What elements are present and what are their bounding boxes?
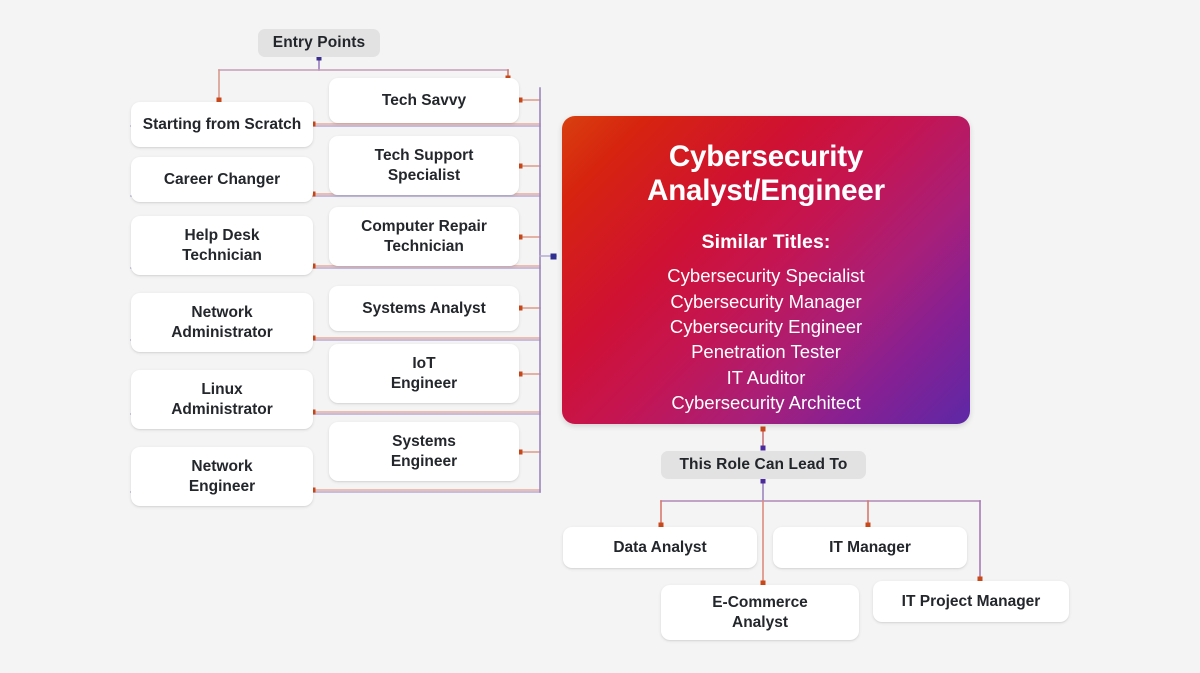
next-role-node-label: IT Manager — [829, 538, 911, 558]
role-pathway-node-label-line: Computer Repair — [361, 217, 487, 237]
role-pathway-node[interactable]: Tech SupportSpecialist — [329, 136, 519, 195]
leads-to-label: This Role Can Lead To — [679, 456, 847, 474]
role-pathway-node-label: Tech Savvy — [382, 91, 466, 111]
section-label-this-role-can-lead-to: This Role Can Lead To — [661, 451, 866, 479]
role-pathway-node[interactable]: SystemsEngineer — [329, 422, 519, 481]
role-pathway-node-label-line: Systems Analyst — [362, 299, 486, 319]
role-pathway-node[interactable]: Computer RepairTechnician — [329, 207, 519, 266]
role-pathway-node-label-line: Technician — [361, 237, 487, 257]
entry-point-node-label-line: Network — [189, 457, 255, 477]
entry-point-node-label-line: Help Desk — [182, 226, 262, 246]
similar-title-item: Cybersecurity Manager — [667, 289, 864, 314]
central-role-title-line1: Cybersecurity — [669, 140, 863, 173]
central-role-card: Cybersecurity Analyst/Engineer Similar T… — [562, 116, 970, 424]
similar-titles-label: Similar Titles: — [701, 231, 830, 254]
entry-point-node-label-line: Engineer — [189, 477, 255, 497]
similar-title-item: Cybersecurity Architect — [667, 390, 864, 415]
role-pathway-node-label-line: Engineer — [391, 452, 457, 472]
next-role-node-label: Data Analyst — [613, 538, 706, 558]
similar-title-item: Cybersecurity Engineer — [667, 314, 864, 339]
next-role-node-label-line: IT Manager — [829, 538, 911, 558]
similar-title-item: Penetration Tester — [667, 339, 864, 364]
entry-point-node[interactable]: Starting from Scratch — [131, 102, 313, 147]
role-pathway-node-label-line: Engineer — [391, 374, 457, 394]
similar-title-item: Cybersecurity Specialist — [667, 263, 864, 288]
role-pathway-node-label: IoTEngineer — [391, 354, 457, 394]
next-role-node-label-line: E-Commerce — [712, 593, 808, 613]
role-pathway-node-label: Tech SupportSpecialist — [375, 146, 474, 186]
central-role-title-line2: Analyst/Engineer — [647, 174, 885, 207]
role-pathway-node-label-line: Specialist — [375, 166, 474, 186]
next-role-node[interactable]: IT Project Manager — [873, 581, 1069, 622]
career-pathway-diagram: Entry Points This Role Can Lead To Cyber… — [0, 0, 1200, 673]
role-pathway-node[interactable]: Tech Savvy — [329, 78, 519, 123]
next-role-node-label-line: IT Project Manager — [902, 592, 1041, 612]
entry-point-node-label: Career Changer — [164, 170, 280, 190]
entry-points-label: Entry Points — [273, 34, 366, 52]
entry-point-node-label: NetworkEngineer — [189, 457, 255, 497]
entry-point-node[interactable]: Career Changer — [131, 157, 313, 202]
next-role-node[interactable]: Data Analyst — [563, 527, 757, 568]
role-pathway-node-label: Systems Analyst — [362, 299, 486, 319]
role-pathway-node[interactable]: Systems Analyst — [329, 286, 519, 331]
entry-point-node-label-line: Technician — [182, 246, 262, 266]
next-role-node-label-line: Data Analyst — [613, 538, 706, 558]
entry-point-node[interactable]: Help DeskTechnician — [131, 216, 313, 275]
entry-point-node-label-line: Administrator — [171, 400, 273, 420]
entry-point-node-label-line: Starting from Scratch — [143, 115, 301, 135]
entry-point-node-label: Starting from Scratch — [143, 115, 301, 135]
role-pathway-node-label: Computer RepairTechnician — [361, 217, 487, 257]
role-pathway-node-label-line: Tech Savvy — [382, 91, 466, 111]
similar-title-item: IT Auditor — [667, 365, 864, 390]
entry-point-node-label: LinuxAdministrator — [171, 380, 273, 420]
central-role-title: Cybersecurity Analyst/Engineer — [584, 140, 948, 207]
entry-point-node[interactable]: LinuxAdministrator — [131, 370, 313, 429]
entry-point-node-label-line: Network — [171, 303, 273, 323]
role-pathway-node[interactable]: IoTEngineer — [329, 344, 519, 403]
similar-titles-list: Cybersecurity SpecialistCybersecurity Ma… — [667, 263, 864, 415]
next-role-node-label: E-CommerceAnalyst — [712, 593, 808, 633]
entry-point-node-label: Help DeskTechnician — [182, 226, 262, 266]
entry-point-node-label-line: Career Changer — [164, 170, 280, 190]
next-role-node[interactable]: E-CommerceAnalyst — [661, 585, 859, 640]
next-role-node-label-line: Analyst — [712, 613, 808, 633]
entry-point-node[interactable]: NetworkEngineer — [131, 447, 313, 506]
section-label-entry-points: Entry Points — [258, 29, 380, 57]
entry-point-node-label-line: Linux — [171, 380, 273, 400]
role-pathway-node-label: SystemsEngineer — [391, 432, 457, 472]
entry-point-node-label-line: Administrator — [171, 323, 273, 343]
role-pathway-node-label-line: Tech Support — [375, 146, 474, 166]
entry-point-node-label: NetworkAdministrator — [171, 303, 273, 343]
role-pathway-node-label-line: IoT — [391, 354, 457, 374]
next-role-node[interactable]: IT Manager — [773, 527, 967, 568]
next-role-node-label: IT Project Manager — [902, 592, 1041, 612]
role-pathway-node-label-line: Systems — [391, 432, 457, 452]
entry-point-node[interactable]: NetworkAdministrator — [131, 293, 313, 352]
